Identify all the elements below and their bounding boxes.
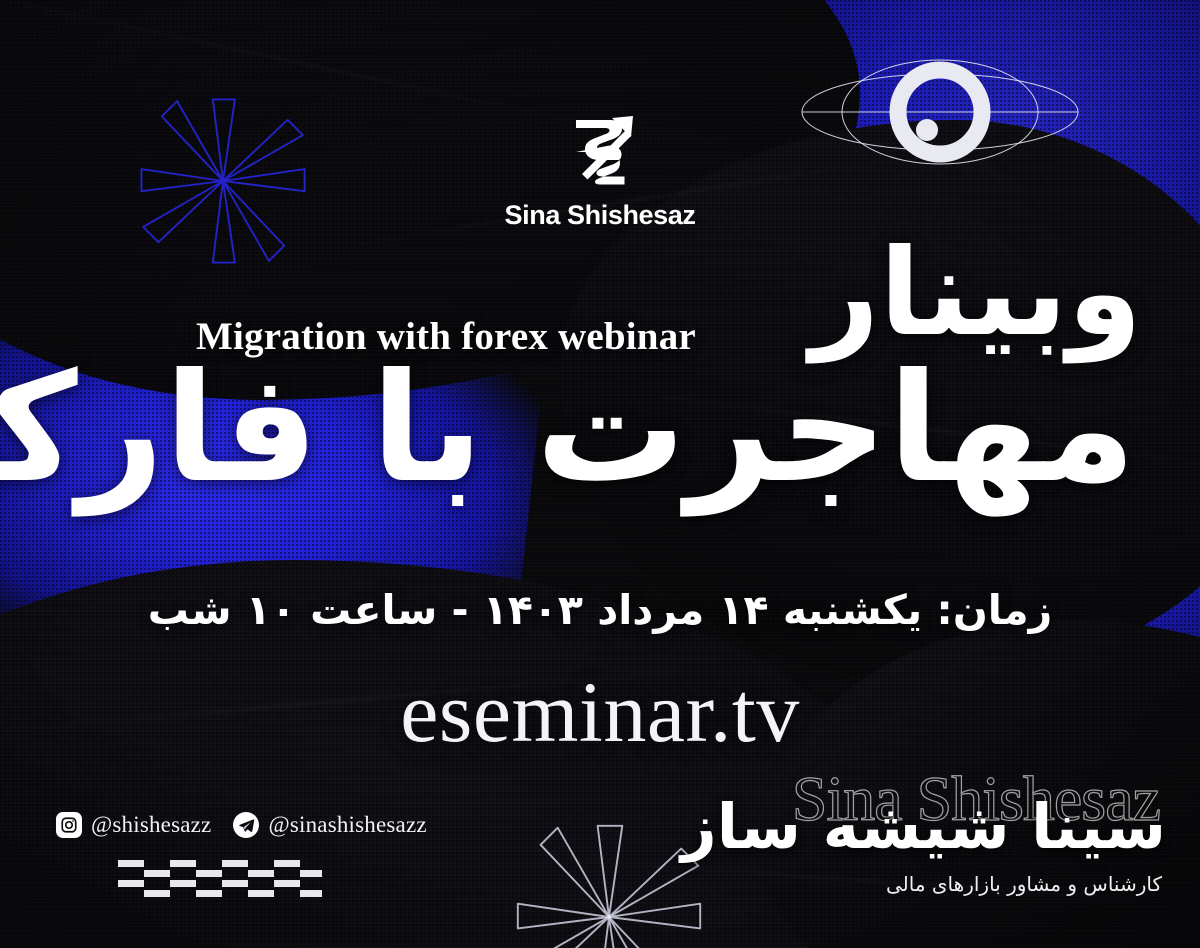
instagram-icon (56, 812, 82, 838)
brand-wordmark: Sina Shishesaz (505, 200, 696, 231)
headline-line-2: مهاجرت با فارکس (16, 357, 1176, 501)
signature-persian-subtitle: کارشناس و مشاور بازارهای مالی (886, 872, 1162, 896)
instagram-handle: @shishesazz (91, 812, 211, 838)
poster-canvas: Sina Shishesaz Migration with forex webi… (0, 0, 1200, 948)
telegram-icon (233, 812, 259, 838)
telegram-handle: @sinashishesazz (268, 812, 426, 838)
checker-dash-pattern-icon (118, 860, 322, 900)
social-links: @shishesazz @sinashishesazz (56, 812, 427, 838)
social-link-instagram[interactable]: @shishesazz (56, 812, 211, 838)
signature-persian-name: سینا شیشه ساز (681, 790, 1166, 863)
sina-shishesaz-arrow-logo-icon (564, 112, 636, 190)
event-datetime: زمان: یکشنبه ۱۴ مرداد ۱۴۰۳ - ساعت ۱۰ شب (0, 586, 1200, 634)
website-url[interactable]: eseminar.tv (0, 662, 1200, 762)
headline-block: وبینار مهاجرت با فارکس (16, 236, 1176, 501)
signature-lockup: Sina Shishesaz سینا شیشه ساز کارشناس و م… (766, 762, 1166, 912)
headline-line-1: وبینار (16, 236, 1176, 351)
social-link-telegram[interactable]: @sinashishesazz (233, 812, 426, 838)
brand-lockup-top: Sina Shishesaz (0, 112, 1200, 231)
